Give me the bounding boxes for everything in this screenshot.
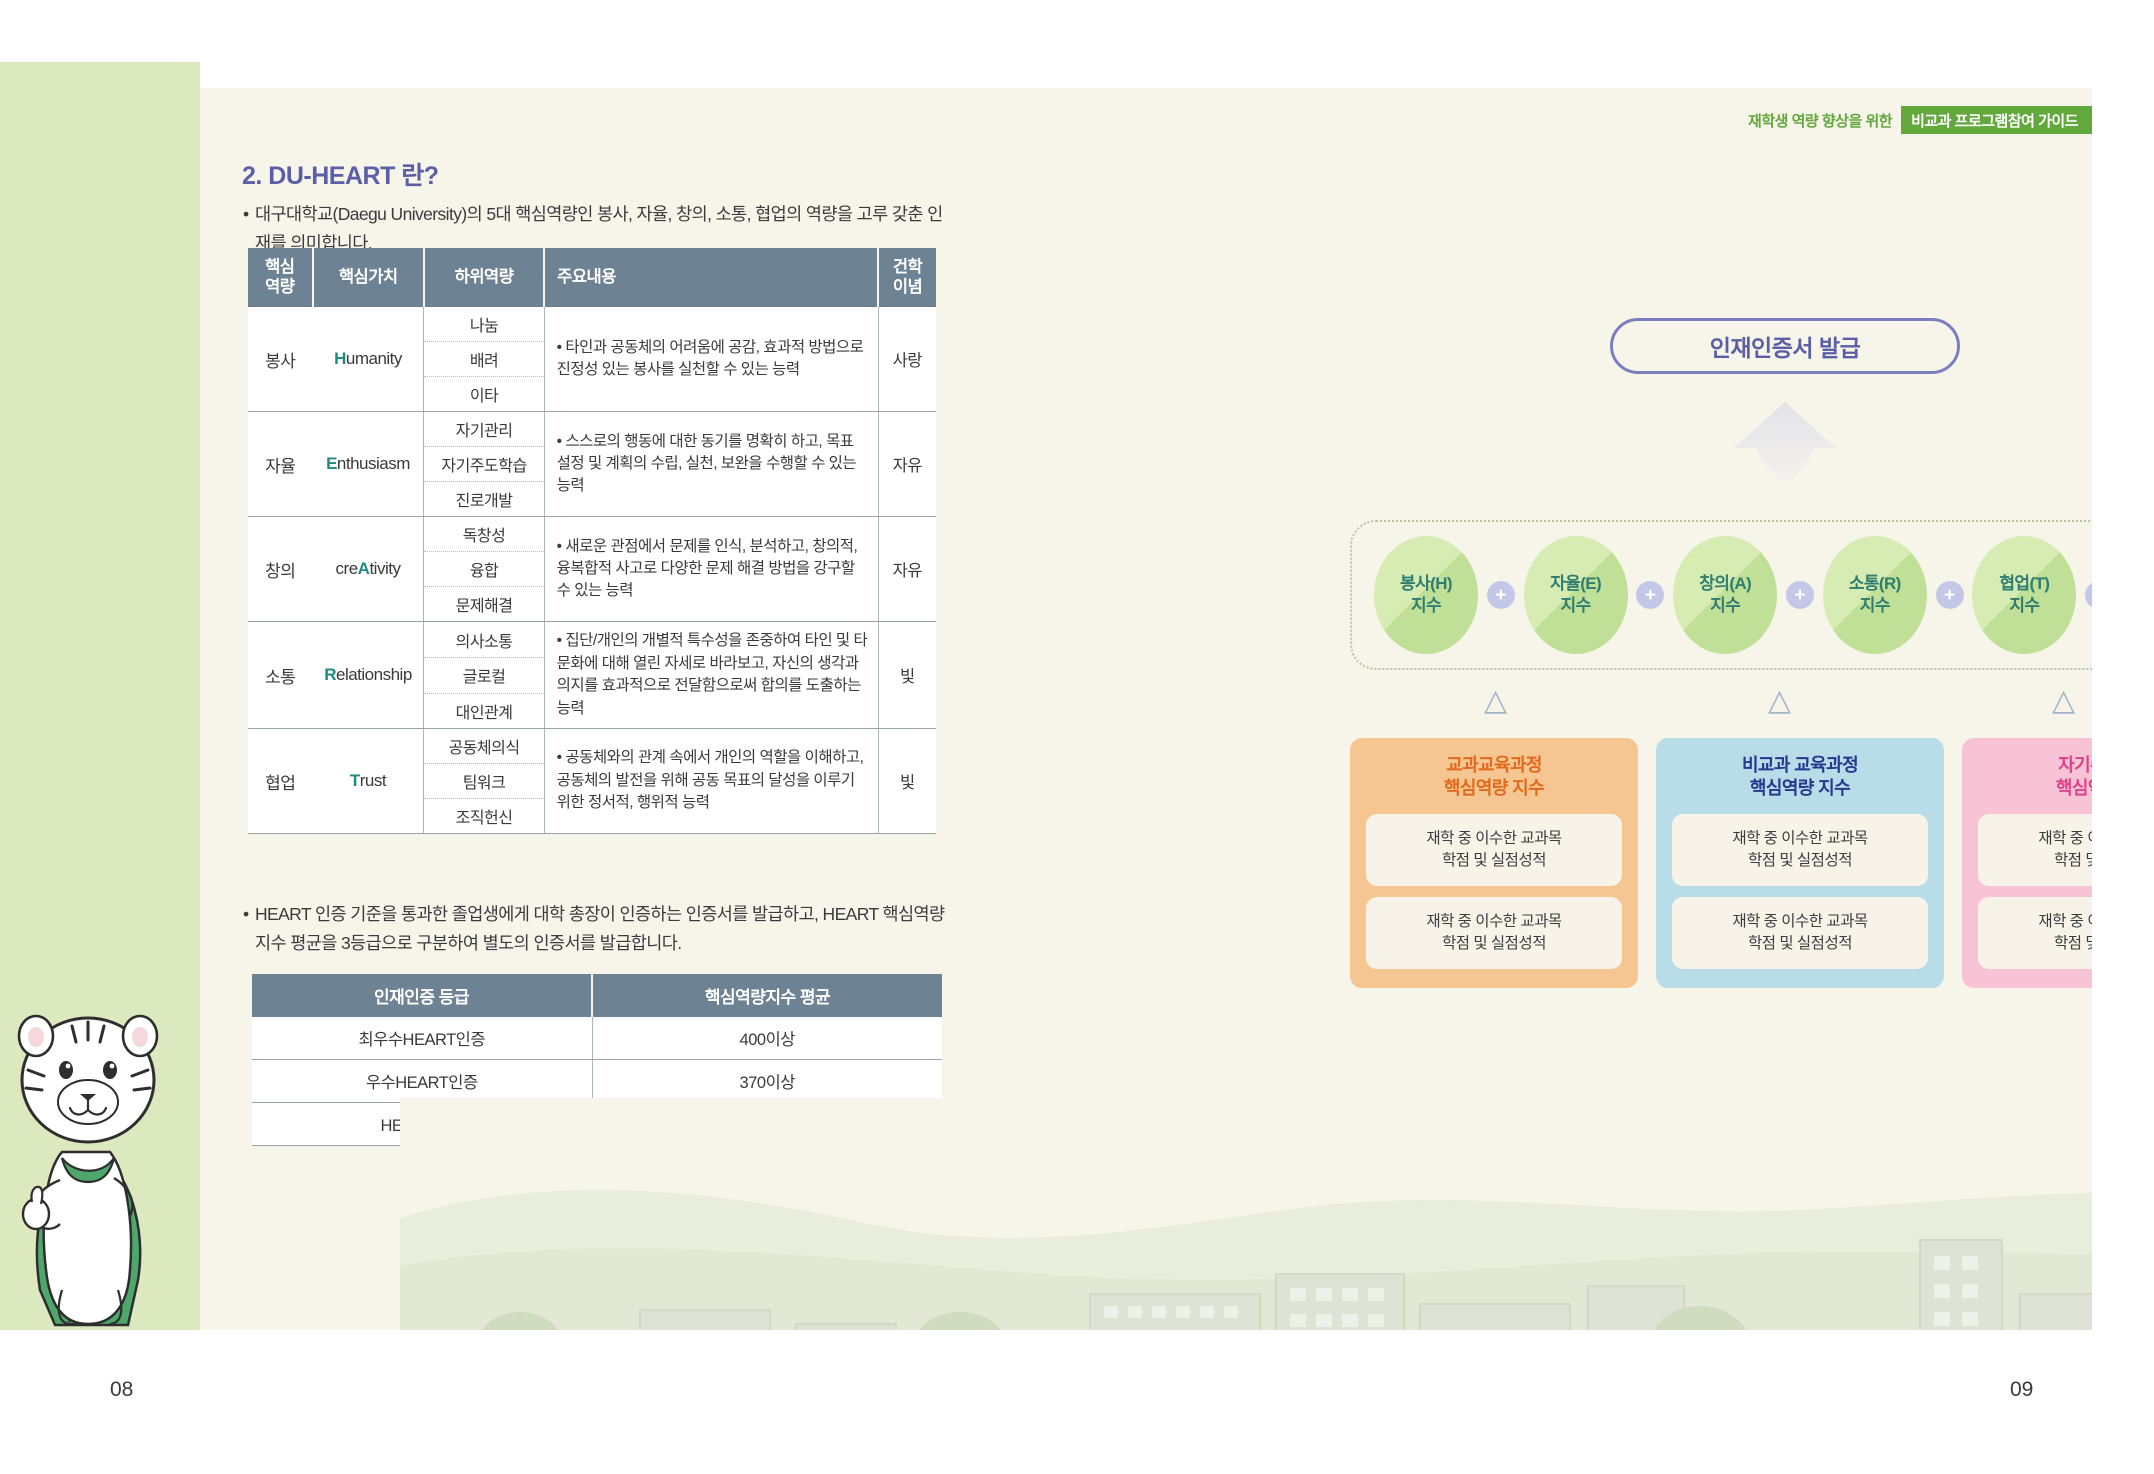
bullet-marker: •	[243, 900, 249, 929]
plus-operator-icon: +	[1936, 581, 1964, 609]
index-box-curricular: 교과교육과정 핵심역량 지수 재학 중 이수한 교과목 학점 및 실점성적 재학…	[1350, 738, 1638, 988]
index-formula-row: 봉사(H) 지수 + 자율(E) 지수 + 창의(A) 지수 + 소통(R) 지…	[1350, 520, 2092, 670]
competency-table-body: 봉사 Humanity 나눔 • 타인과 공동체의 어려움에 공감, 효과적 방…	[248, 307, 936, 834]
cell-sub-competency: 대인관계	[424, 693, 544, 729]
cell-sub-competency: 진로개발	[424, 482, 544, 517]
cell-sub-competency: 배려	[424, 342, 544, 377]
section-title: 2. DU-HEART 란?	[242, 156, 439, 192]
page-number-right: 09	[2010, 1378, 2033, 1402]
index-box-extracurricular: 비교과 교육과정 핵심역량 지수 재학 중 이수한 교과목 학점 및 실점성적 …	[1656, 738, 1944, 988]
competency-table-header-row: 핵심 역량 핵심가치 하위역량 주요내용 건학 이념	[248, 248, 936, 307]
cell-sub-competency: 나눔	[424, 307, 544, 342]
table-row: 소통 Relationship 의사소통 • 집단/개인의 개별적 특수성을 존…	[248, 622, 936, 658]
header-tag-label: 비교과 프로그램참여 가이드	[1901, 106, 2092, 134]
table-row: 협업 Trust 공동체의식 • 공동체와의 관계 속에서 개인의 역할을 이해…	[248, 729, 936, 764]
cell-sub-competency: 자기관리	[424, 412, 544, 447]
cell-founding-ideal: 빛	[878, 622, 936, 729]
core-value-initial: E	[326, 454, 337, 473]
core-value-rest: tivity	[369, 559, 400, 578]
plus-operator-icon: +	[1636, 581, 1664, 609]
index-box-item: 재학 중 이수한 교과목 학점 및 실점성적	[1978, 897, 2092, 969]
cell-founding-ideal: 자유	[878, 412, 936, 517]
tiger-mascot-illustration	[10, 930, 200, 1330]
index-box-item: 재학 중 이수한 교과목 학점 및 실점성적	[1672, 897, 1928, 969]
chevron-up-icon: △	[2046, 688, 2080, 718]
core-value-rest: umanity	[346, 349, 402, 368]
plus-operator-icon: +	[1786, 581, 1814, 609]
intro-text: 대구대학교(Daegu University)의 5대 핵심역량인 봉사, 자율…	[255, 204, 943, 253]
cell-founding-ideal: 빛	[878, 729, 936, 834]
table-row: 우수HEART인증 370이상	[252, 1060, 942, 1103]
cell-core-value: Trust	[313, 729, 424, 834]
cell-description: • 타인과 공동체의 어려움에 공감, 효과적 방법으로 진정성 있는 봉사를 …	[544, 307, 878, 412]
cell-sub-competency: 공동체의식	[424, 729, 544, 764]
cell-description: • 스스로의 행동에 대한 동기를 명확히 하고, 목표 설정 및 계획의 수립…	[544, 412, 878, 517]
cell-sub-competency: 이타	[424, 377, 544, 412]
col-header-core-competency: 핵심 역량	[248, 248, 313, 307]
cell-competency: 봉사	[248, 307, 313, 412]
core-value-initial: A	[358, 559, 370, 578]
cell-description: • 집단/개인의 개별적 특수성을 존중하여 타인 및 타문화에 대해 열린 자…	[544, 622, 878, 729]
cell-competency: 자율	[248, 412, 313, 517]
index-box-title: 교과교육과정 핵심역량 지수	[1444, 754, 1544, 801]
index-box-title: 자기주도활동 핵심역량 지수	[2056, 754, 2092, 801]
col-header-score: 핵심역량지수 평균	[592, 974, 942, 1017]
cell-founding-ideal: 사랑	[878, 307, 936, 412]
header-pre-text: 재학생 역량 향상을 위한	[1748, 110, 1901, 131]
bullet-marker: •	[243, 200, 249, 229]
core-value-prefix: cre	[336, 559, 358, 578]
page-number-left: 08	[110, 1378, 133, 1402]
table-row: 창의 creAtivity 독창성 • 새로운 관점에서 문제를 인식, 분석하…	[248, 517, 936, 552]
content-page: 재학생 역량 향상을 위한 비교과 프로그램참여 가이드 2. DU-HEART…	[200, 88, 2092, 1330]
index-circle-communication: 소통(R) 지수	[1823, 536, 1927, 654]
cert-table-header-row: 인재인증 등급 핵심역량지수 평균	[252, 974, 942, 1017]
cell-competency: 소통	[248, 622, 313, 729]
cell-sub-competency: 문제해결	[424, 587, 544, 622]
chevron-row: △ △ △	[1350, 688, 2092, 728]
campus-illustration	[400, 1098, 2092, 1330]
desc-text: 집단/개인의 개별적 특수성을 존중하여 타인 및 타문화에 대해 열린 자세로…	[557, 632, 868, 716]
equals-operator-icon: =	[2085, 581, 2092, 609]
cell-core-value: Humanity	[313, 307, 424, 412]
index-box-item: 재학 중 이수한 교과목 학점 및 실점성적	[1366, 814, 1622, 886]
index-box-title: 비교과 교육과정 핵심역량 지수	[1742, 754, 1858, 801]
index-circle-creativity: 창의(A) 지수	[1673, 536, 1777, 654]
header-banner: 재학생 역량 향상을 위한 비교과 프로그램참여 가이드	[1748, 105, 2092, 135]
up-arrow-icon	[1730, 400, 1840, 486]
desc-text: 공동체와의 관계 속에서 개인의 역할을 이해하고, 공동체의 발전을 위해 공…	[557, 749, 864, 811]
cell-grade: 최우수HEART인증	[252, 1017, 592, 1060]
cell-sub-competency: 글로컬	[424, 657, 544, 693]
cell-sub-competency: 조직헌신	[424, 799, 544, 834]
col-header-description: 주요내용	[544, 248, 878, 307]
certificate-issuance-badge: 인재인증서 발급	[1610, 318, 1960, 374]
core-value-rest: nthusiasm	[337, 454, 410, 473]
desc-text: 스스로의 행동에 대한 동기를 명확히 하고, 목표 설정 및 계획의 수립, …	[557, 433, 857, 495]
cell-sub-competency: 융합	[424, 552, 544, 587]
table-row: 봉사 Humanity 나눔 • 타인과 공동체의 어려움에 공감, 효과적 방…	[248, 307, 936, 342]
core-value-rest: rust	[360, 771, 386, 790]
index-circle-autonomy: 자율(E) 지수	[1524, 536, 1628, 654]
plus-operator-icon: +	[1487, 581, 1515, 609]
cell-description: • 새로운 관점에서 문제를 인식, 분석하고, 창의적, 융복합적 사고로 다…	[544, 517, 878, 622]
cell-sub-competency: 독창성	[424, 517, 544, 552]
table-row: 자율 Enthusiasm 자기관리 • 스스로의 행동에 대한 동기를 명확히…	[248, 412, 936, 447]
certification-paragraph-text: HEART 인증 기준을 통과한 졸업생에게 대학 총장이 인증하는 인증서를 …	[255, 904, 945, 953]
cell-core-value: Enthusiasm	[313, 412, 424, 517]
index-box-self-directed: 자기주도활동 핵심역량 지수 재학 중 이수한 교과목 학점 및 실점성적 재학…	[1962, 738, 2092, 988]
col-header-core-value: 핵심가치	[313, 248, 424, 307]
cell-sub-competency: 팀워크	[424, 764, 544, 799]
cell-competency: 창의	[248, 517, 313, 622]
index-box-item: 재학 중 이수한 교과목 학점 및 실점성적	[1978, 814, 2092, 886]
cell-grade: 우수HEART인증	[252, 1060, 592, 1103]
certification-paragraph: • HEART 인증 기준을 통과한 졸업생에게 대학 총장이 인증하는 인증서…	[255, 900, 955, 959]
cell-description: • 공동체와의 관계 속에서 개인의 역할을 이해하고, 공동체의 발전을 위해…	[544, 729, 878, 834]
index-circle-collaboration: 협업(T) 지수	[1972, 536, 2076, 654]
chevron-up-icon: △	[1478, 688, 1512, 718]
index-source-boxes: 교과교육과정 핵심역량 지수 재학 중 이수한 교과목 학점 및 실점성적 재학…	[1350, 738, 2092, 988]
index-box-item: 재학 중 이수한 교과목 학점 및 실점성적	[1672, 814, 1928, 886]
col-header-founding-ideal: 건학 이념	[878, 248, 936, 307]
core-value-rest: elationship	[336, 665, 412, 684]
desc-text: 새로운 관점에서 문제를 인식, 분석하고, 창의적, 융복합적 사고로 다양한…	[557, 538, 858, 600]
col-header-sub-competency: 하위역량	[424, 248, 544, 307]
table-row: 최우수HEART인증 400이상	[252, 1017, 942, 1060]
heart-index-diagram: 인재인증서 발급 봉사(H) 지수 + 자율(E) 지	[1350, 288, 2092, 1088]
cell-score: 400이상	[592, 1017, 942, 1060]
brochure-spread: 재학생 역량 향상을 위한 비교과 프로그램참여 가이드 2. DU-HEART…	[0, 0, 2154, 1474]
core-value-initial: H	[334, 349, 346, 368]
index-circle-service: 봉사(H) 지수	[1374, 536, 1478, 654]
cell-founding-ideal: 자유	[878, 517, 936, 622]
competency-table: 핵심 역량 핵심가치 하위역량 주요내용 건학 이념 봉사	[248, 248, 936, 834]
cell-core-value: creAtivity	[313, 517, 424, 622]
cell-competency: 협업	[248, 729, 313, 834]
index-box-item: 재학 중 이수한 교과목 학점 및 실점성적	[1366, 897, 1622, 969]
cell-sub-competency: 자기주도학습	[424, 447, 544, 482]
core-value-initial: R	[324, 665, 336, 684]
core-value-initial: T	[350, 771, 360, 790]
desc-text: 타인과 공동체의 어려움에 공감, 효과적 방법으로 진정성 있는 봉사를 실천…	[557, 339, 864, 378]
chevron-up-icon: △	[1762, 688, 1796, 718]
cell-score: 370이상	[592, 1060, 942, 1103]
cell-sub-competency: 의사소통	[424, 622, 544, 658]
cell-core-value: Relationship	[313, 622, 424, 729]
col-header-grade: 인재인증 등급	[252, 974, 592, 1017]
